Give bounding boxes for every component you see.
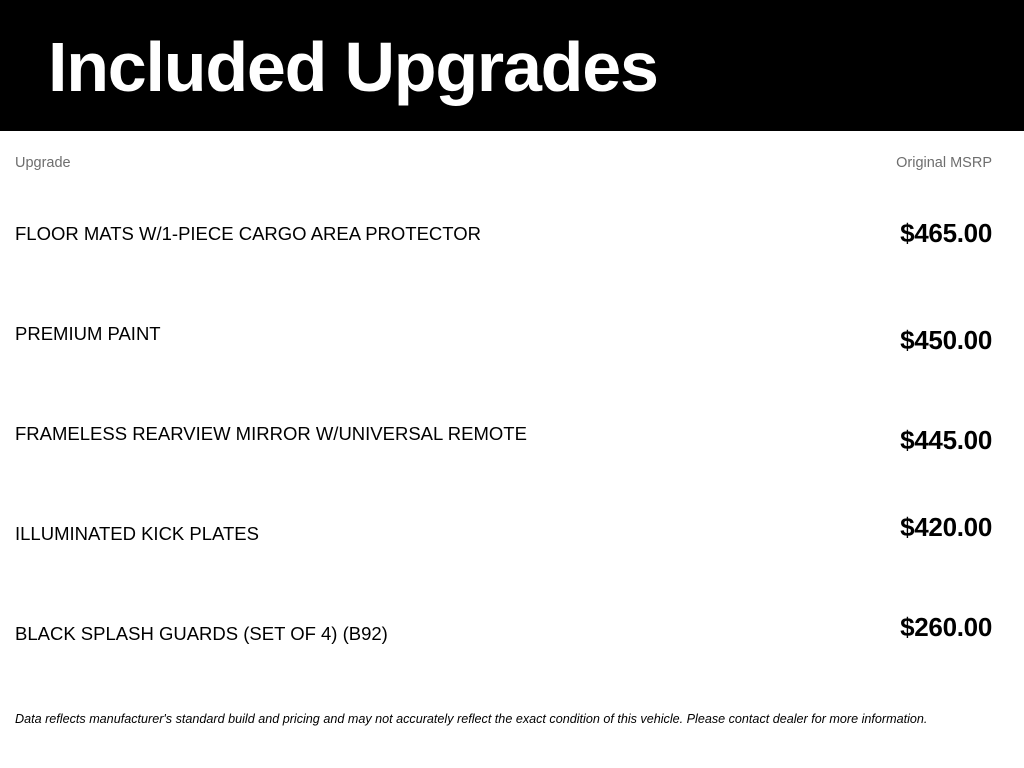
- upgrades-table: Upgrade Original MSRP FLOOR MATS W/1-PIE…: [0, 131, 1024, 683]
- column-header-upgrade: Upgrade: [15, 155, 71, 171]
- upgrades-row-list: FLOOR MATS W/1-PIECE CARGO AREA PROTECTO…: [0, 183, 1024, 683]
- upgrade-name: BLACK SPLASH GUARDS (SET OF 4) (B92): [0, 622, 388, 645]
- upgrade-name: FLOOR MATS W/1-PIECE CARGO AREA PROTECTO…: [0, 222, 481, 245]
- disclaimer-text: Data reflects manufacturer's standard bu…: [15, 711, 1009, 728]
- upgrade-name: PREMIUM PAINT: [0, 322, 161, 345]
- page-header-banner: Included Upgrades: [0, 0, 1024, 131]
- table-row: BLACK SPLASH GUARDS (SET OF 4) (B92) $26…: [0, 583, 1024, 683]
- upgrade-price: $445.00: [900, 425, 1024, 455]
- column-header-original-msrp: Original MSRP: [896, 155, 992, 171]
- table-row: ILLUMINATED KICK PLATES $420.00: [0, 483, 1024, 583]
- page-title: Included Upgrades: [48, 24, 658, 110]
- upgrade-name: FRAMELESS REARVIEW MIRROR W/UNIVERSAL RE…: [0, 422, 527, 445]
- table-column-headers: Upgrade Original MSRP: [0, 131, 1024, 183]
- table-row: FLOOR MATS W/1-PIECE CARGO AREA PROTECTO…: [0, 183, 1024, 283]
- upgrade-price: $420.00: [900, 512, 1024, 542]
- upgrade-price: $450.00: [900, 325, 1024, 355]
- included-upgrades-page: Included Upgrades Upgrade Original MSRP …: [0, 0, 1024, 768]
- table-row: FRAMELESS REARVIEW MIRROR W/UNIVERSAL RE…: [0, 383, 1024, 483]
- upgrade-name: ILLUMINATED KICK PLATES: [0, 522, 259, 545]
- upgrade-price: $260.00: [900, 612, 1024, 642]
- upgrade-price: $465.00: [900, 218, 1024, 248]
- table-row: PREMIUM PAINT $450.00: [0, 283, 1024, 383]
